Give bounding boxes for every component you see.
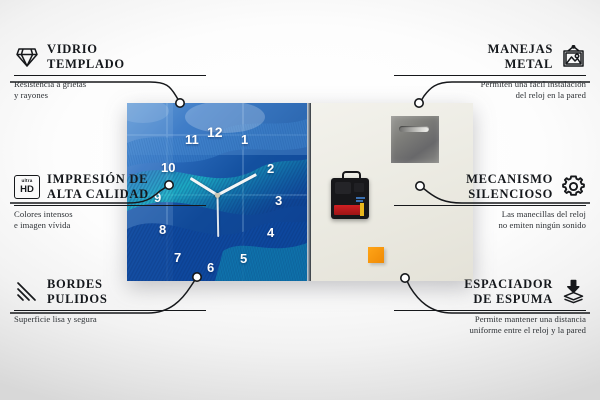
feature-desc-line2: del reloj en la pared: [394, 90, 586, 101]
feature-divider: [394, 75, 586, 76]
clock-numeral: 7: [174, 250, 181, 265]
feature-title: BORDES PULIDOS: [47, 277, 107, 307]
diamond-icon: [14, 44, 40, 70]
feature-description: Las manecillas del reloj no emiten ningú…: [394, 209, 586, 232]
feature-desc-line2: y rayones: [14, 90, 206, 101]
clock-numeral: 6: [207, 260, 214, 275]
arrow-onto-layers-icon: [560, 279, 586, 305]
feature-header: BORDES PULIDOS: [14, 277, 206, 307]
feature-mecanismo-silencioso: MECANISMO SILENCIOSO Las manecillas del …: [394, 172, 586, 232]
clock-numeral: 3: [275, 193, 282, 208]
feature-description: Superficie lisa y segura: [14, 314, 206, 325]
feature-desc-line1: Permite mantener una distancia: [394, 314, 586, 325]
feature-desc-line2: no emiten ningún sonido: [394, 220, 586, 231]
feature-divider: [394, 205, 586, 206]
feature-desc-line1: Resistencia a grietas: [14, 79, 206, 90]
feature-divider: [394, 310, 586, 311]
feature-title-line1: ESPACIADOR: [464, 277, 553, 292]
quartz-movement: [331, 178, 369, 219]
feature-title-line2: DE ESPUMA: [464, 292, 553, 307]
diagonal-lines-icon: [14, 279, 40, 305]
feature-title: IMPRESIÓN DE ALTA CALIDAD: [47, 172, 149, 202]
feature-title-line1: VIDRIO: [47, 42, 125, 57]
feature-description: Permite mantener una distancia uniforme …: [394, 314, 586, 337]
feature-desc-line2: uniforme entre el reloj y la pared: [394, 325, 586, 336]
feature-title-line1: MECANISMO: [466, 172, 553, 187]
feature-title: ESPACIADOR DE ESPUMA: [464, 277, 553, 307]
infographic-stage: 12 1 2 3 4 5 6 7 8 9 10 11: [0, 0, 600, 400]
feature-bordes-pulidos: BORDES PULIDOS Superficie lisa y segura: [14, 277, 206, 325]
feature-impresion-alta-calidad: ultra HD IMPRESIÓN DE ALTA CALIDAD Color…: [14, 172, 206, 232]
feature-title: MANEJAS METAL: [488, 42, 553, 72]
feature-title: VIDRIO TEMPLADO: [47, 42, 125, 72]
framed-picture-hanging-icon: [560, 44, 586, 70]
clock-numeral: 4: [267, 225, 274, 240]
feature-header: MANEJAS METAL: [394, 42, 586, 72]
clock-numeral: 2: [267, 161, 274, 176]
foam-spacer: [368, 247, 384, 263]
feature-divider: [14, 310, 206, 311]
feature-title-line2: TEMPLADO: [47, 57, 125, 72]
feature-desc-line1: Las manecillas del reloj: [394, 209, 586, 220]
feature-espaciador-espuma: ESPACIADOR DE ESPUMA Permite mantener un…: [394, 277, 586, 337]
feature-header: ultra HD IMPRESIÓN DE ALTA CALIDAD: [14, 172, 206, 202]
feature-desc-line1: Superficie lisa y segura: [14, 314, 206, 325]
feature-description: Colores intensos e imagen vívida: [14, 209, 206, 232]
feature-title-line2: PULIDOS: [47, 292, 107, 307]
feature-divider: [14, 75, 206, 76]
gear-icon: [560, 174, 586, 200]
ultra-hd-badge-icon: ultra HD: [14, 174, 40, 200]
hanger-keyhole-slot: [399, 126, 429, 132]
feature-title-line2: METAL: [488, 57, 553, 72]
clock-pivot: [215, 193, 220, 198]
feature-title-line1: MANEJAS: [488, 42, 553, 57]
second-hand: [217, 195, 219, 237]
feature-title-line2: ALTA CALIDAD: [47, 187, 149, 202]
feature-description: Permiten una fácil instalación del reloj…: [394, 79, 586, 102]
feature-desc-line1: Permiten una fácil instalación: [394, 79, 586, 90]
feature-desc-line1: Colores intensos: [14, 209, 206, 220]
feature-header: VIDRIO TEMPLADO: [14, 42, 206, 72]
feature-divider: [14, 205, 206, 206]
feature-title-line2: SILENCIOSO: [466, 187, 553, 202]
battery-contact: [360, 203, 364, 216]
clock-numeral: 1: [241, 132, 248, 147]
feature-vidrio-templado: VIDRIO TEMPLADO Resistencia a grietas y …: [14, 42, 206, 102]
clock-numeral: 5: [240, 251, 247, 266]
feature-title-line1: IMPRESIÓN DE: [47, 172, 149, 187]
metal-hanger-plate: [391, 116, 439, 163]
clock-numeral: 12: [207, 124, 223, 140]
feature-header: ESPACIADOR DE ESPUMA: [394, 277, 586, 307]
feature-desc-line2: e imagen vívida: [14, 220, 206, 231]
feature-title-line1: BORDES: [47, 277, 107, 292]
feature-manejas-metal: MANEJAS METAL Permiten una fácil: [394, 42, 586, 102]
clock-numeral: 11: [185, 132, 199, 147]
hd-badge-large-text: HD: [20, 185, 34, 195]
feature-description: Resistencia a grietas y rayones: [14, 79, 206, 102]
feature-title: MECANISMO SILENCIOSO: [466, 172, 553, 202]
feature-header: MECANISMO SILENCIOSO: [394, 172, 586, 202]
